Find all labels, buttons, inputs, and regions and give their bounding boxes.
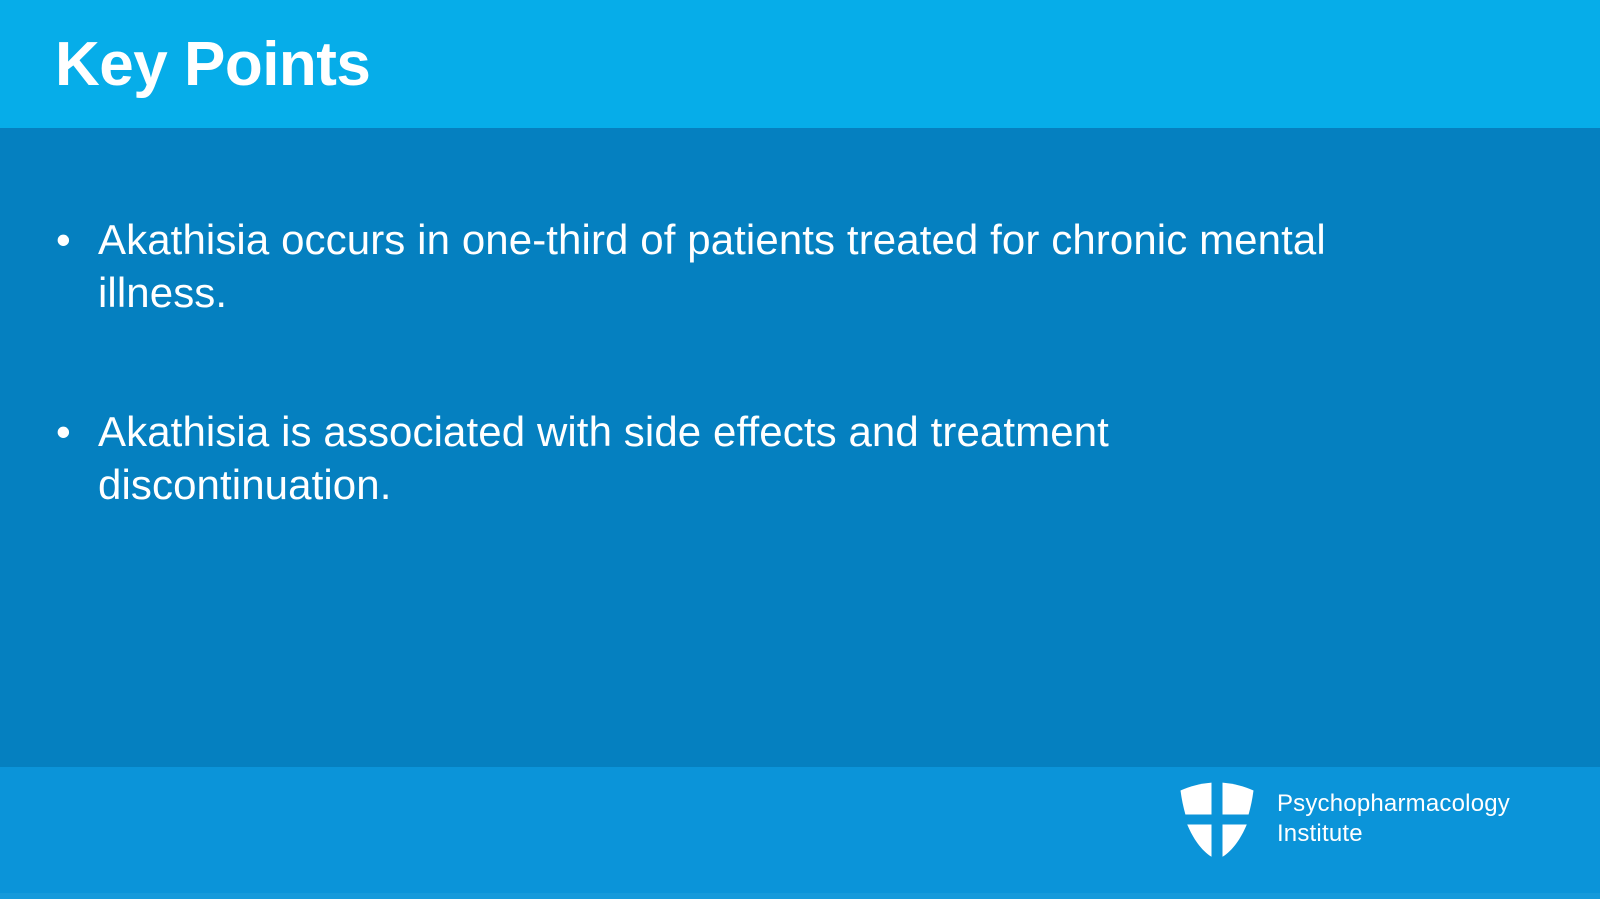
brand-name: Psychopharmacology Institute (1277, 789, 1510, 849)
shield-logo-icon (1179, 779, 1255, 859)
brand-logo: Psychopharmacology Institute (1179, 779, 1510, 859)
slide-header-band: Key Points (0, 0, 1600, 128)
page-title: Key Points (55, 30, 370, 100)
slide-bottom-strip (0, 893, 1600, 899)
bullet-point-icon: • (44, 405, 98, 458)
brand-name-line1: Psychopharmacology (1277, 790, 1510, 817)
list-item: • Akathisia occurs in one-third of patie… (44, 213, 1384, 319)
bullet-list: • Akathisia occurs in one-third of patie… (44, 213, 1384, 511)
list-item: • Akathisia is associated with side effe… (44, 405, 1384, 511)
bullet-text: Akathisia occurs in one-third of patient… (98, 213, 1368, 319)
slide: Key Points • Akathisia occurs in one-thi… (0, 0, 1600, 899)
bullet-text: Akathisia is associated with side effect… (98, 405, 1278, 511)
bullet-point-icon: • (44, 213, 98, 266)
brand-name-line2: Institute (1277, 819, 1510, 849)
slide-body: • Akathisia occurs in one-third of patie… (0, 128, 1600, 767)
